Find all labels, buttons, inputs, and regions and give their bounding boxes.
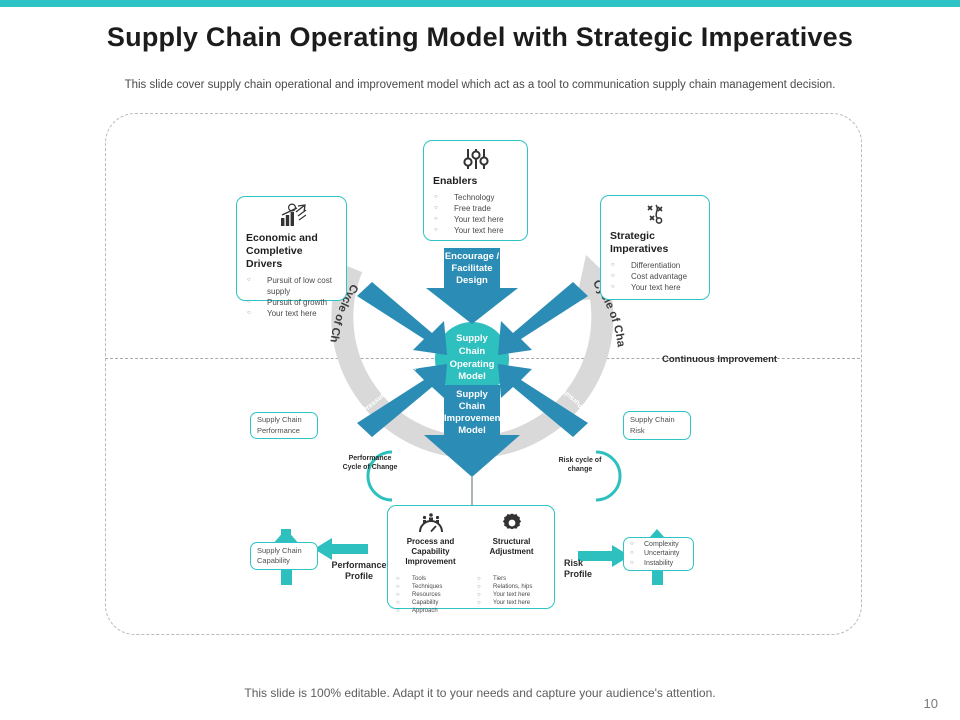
- card-bottom-group[interactable]: Process and Capability Improvement Tools…: [387, 505, 555, 609]
- center-hub-label: Supply Chain Operating Model: [444, 333, 500, 384]
- list-item: Tiers: [471, 575, 552, 583]
- left-flow-arrow: [314, 538, 368, 560]
- list-item: Pursuit of growth: [241, 298, 342, 309]
- list-item: Approach: [390, 607, 471, 615]
- box-risk-label: Supply Chain Risk: [630, 415, 684, 435]
- growth-chart-icon: [241, 203, 342, 229]
- performance-profile-label: Performance Profile: [330, 560, 388, 582]
- list-item: Cost advantage: [605, 272, 705, 283]
- card-economic-drivers[interactable]: Economic and Completive Drivers Pursuit …: [236, 196, 347, 301]
- card-process-bullets: Tools Techniques Resources Capability Ap…: [390, 575, 471, 615]
- top-chevron-label: Encourage / Facilitate Design: [442, 251, 502, 287]
- list-item: Differentiation: [605, 261, 705, 272]
- list-item: Pursuit of low cost supply: [241, 276, 342, 298]
- list-item: Capability: [390, 599, 471, 607]
- box-supply-chain-risk[interactable]: Supply Chain Risk: [623, 411, 691, 440]
- box-capability-label: Supply Chain Capability: [257, 546, 311, 566]
- box-supply-chain-performance[interactable]: Supply Chain Performance: [250, 412, 318, 439]
- strategy-icon: [605, 202, 705, 227]
- card-strategic-bullets: Differentiation Cost advantage Your text…: [605, 261, 705, 293]
- list-item: Tools: [390, 575, 471, 583]
- risk-factors-list: Complexity Uncertainty Instability: [624, 540, 693, 568]
- process-capability-column: Process and Capability Improvement Tools…: [390, 512, 471, 615]
- structural-adjustment-column: Structural Adjustment Tiers Relations, h…: [471, 512, 552, 615]
- card-economic-bullets: Pursuit of low cost supply Pursuit of gr…: [241, 276, 342, 319]
- list-item: Relations, hips: [471, 583, 552, 591]
- continuous-improvement-label: Continuous Improvement: [662, 354, 777, 366]
- risk-cycle-label: Risk cycle of change: [552, 457, 608, 475]
- card-economic-title: Economic and Completive Drivers: [241, 229, 342, 271]
- page-number: 10: [924, 696, 938, 711]
- list-item: Your text here: [605, 283, 705, 294]
- list-item: Uncertainty: [624, 549, 693, 558]
- footer-note: This slide is 100% editable. Adapt it to…: [0, 686, 960, 700]
- sliders-icon: [428, 147, 523, 171]
- card-process-title: Process and Capability Improvement: [390, 534, 471, 567]
- performance-cycle-label: Performance Cycle of Change: [340, 455, 400, 473]
- gear-icon: [471, 512, 552, 534]
- list-item: Your text here: [471, 599, 552, 607]
- page-title: Supply Chain Operating Model with Strate…: [0, 22, 960, 53]
- bottom-chevron-label: Supply Chain Improvement Model: [444, 389, 500, 437]
- list-item: Resources: [390, 591, 471, 599]
- box-supply-chain-capability[interactable]: Supply Chain Capability: [250, 542, 318, 570]
- card-structural-bullets: Tiers Relations, hips Your text here You…: [471, 575, 552, 607]
- diagram-canvas: Cycle of Change Cycle of Change: [0, 105, 960, 665]
- card-enablers-bullets: Technology Free trade Your text here You…: [428, 193, 523, 236]
- list-item: Free trade: [428, 204, 523, 215]
- card-strategic-title: Strategic Imperatives: [605, 227, 705, 256]
- list-item: Your text here: [428, 215, 523, 226]
- card-enablers[interactable]: Enablers Technology Free trade Your text…: [423, 140, 528, 241]
- list-item: Complexity: [624, 540, 693, 549]
- list-item: Techniques: [390, 583, 471, 591]
- performance-gauge-icon: [390, 512, 471, 534]
- list-item: Your text here: [241, 309, 342, 320]
- top-accent-bar: [0, 0, 960, 7]
- card-strategic-imperatives[interactable]: Strategic Imperatives Differentiation Co…: [600, 195, 710, 300]
- list-item: Your text here: [428, 226, 523, 237]
- box-performance-label: Supply Chain Performance: [257, 415, 311, 435]
- card-structural-title: Structural Adjustment: [471, 534, 552, 557]
- box-risk-factors[interactable]: Complexity Uncertainty Instability: [623, 537, 694, 571]
- list-item: Your text here: [471, 591, 552, 599]
- risk-profile-label: Risk Profile: [564, 558, 604, 580]
- card-enablers-title: Enablers: [428, 171, 523, 188]
- list-item: Technology: [428, 193, 523, 204]
- list-item: Instability: [624, 559, 693, 568]
- page-subtitle: This slide cover supply chain operationa…: [60, 79, 900, 91]
